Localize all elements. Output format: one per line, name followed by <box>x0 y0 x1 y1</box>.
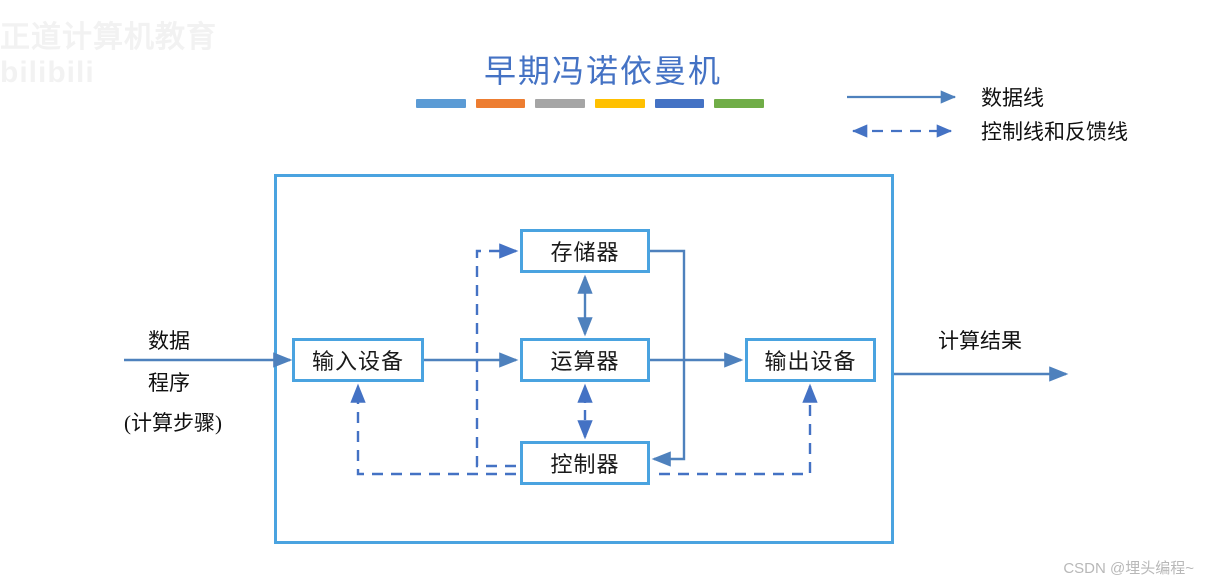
edge-storage-to-control <box>650 251 684 459</box>
connection-lines <box>0 0 1206 586</box>
block-arithmetic-unit[interactable]: 运算器 <box>520 338 650 382</box>
block-input-device[interactable]: 输入设备 <box>292 338 424 382</box>
block-control-unit[interactable]: 控制器 <box>520 441 650 485</box>
csdn-watermark: CSDN @埋头编程~ <box>1063 557 1194 578</box>
edge-output-to-control <box>654 386 810 474</box>
block-storage-unit[interactable]: 存储器 <box>520 229 650 273</box>
label-data: 数据 <box>148 325 190 355</box>
label-program: 程序 <box>148 367 190 397</box>
edge-control-to-storage <box>477 251 516 466</box>
diagram-canvas: 正道计算机教育 bilibili 早期冯诺依曼机 数据线 <box>0 0 1206 586</box>
edge-control-to-input <box>358 386 516 474</box>
label-calculation-result: 计算结果 <box>938 325 1022 355</box>
label-calculation-steps: (计算步骤) <box>124 407 222 437</box>
block-output-device[interactable]: 输出设备 <box>745 338 876 382</box>
